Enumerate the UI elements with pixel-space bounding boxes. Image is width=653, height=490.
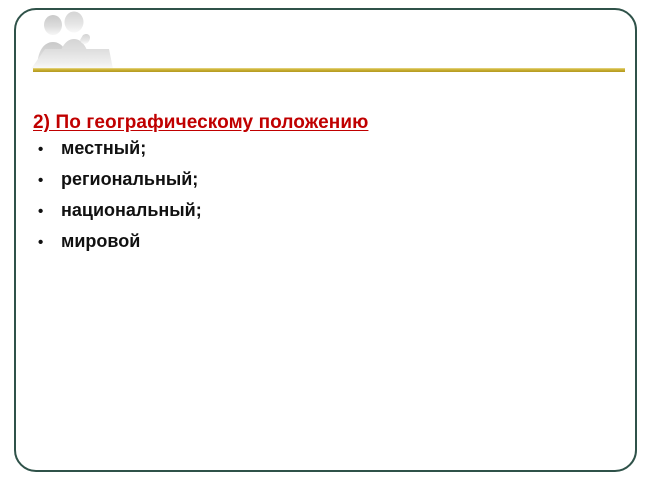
bullet-point-icon: • [33, 142, 61, 157]
business-people-silhouette-icon [31, 11, 113, 69]
bullet-point-icon: • [33, 173, 61, 188]
list-item-label: региональный; [61, 169, 198, 190]
list-item: • региональный; [33, 169, 613, 200]
section-heading: 2) По географическому положению [33, 112, 613, 134]
list-item-label: мировой [61, 231, 140, 252]
list-item: • местный; [33, 138, 613, 169]
list-item-label: местный; [61, 138, 146, 159]
bullet-point-icon: • [33, 204, 61, 219]
list-item-label: национальный; [61, 200, 202, 221]
list-item: • мировой [33, 231, 613, 262]
bullet-list: • местный; • региональный; • национальны… [33, 138, 613, 262]
list-item: • национальный; [33, 200, 613, 231]
presentation-slide: 2) По географическому положению • местны… [0, 0, 653, 490]
bullet-point-icon: • [33, 235, 61, 250]
slide-content: 2) По географическому положению • местны… [33, 112, 613, 262]
header-gold-divider [33, 68, 625, 72]
